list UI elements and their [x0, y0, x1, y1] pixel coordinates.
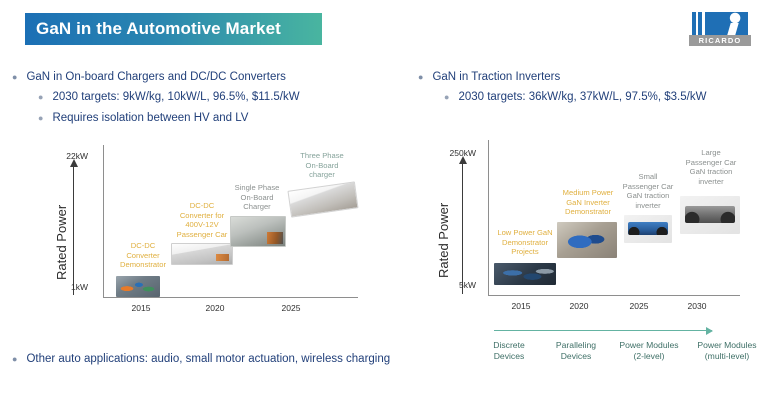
bullet-dot-icon: ● — [12, 70, 17, 85]
chart-right-point-1-label: Low Power GaN Demonstrator Projects — [490, 228, 560, 257]
chart-left-point-3-thumbnail — [230, 216, 286, 247]
logo-r-glyph — [705, 12, 748, 35]
chart-left-x-tick-2: 2020 — [192, 303, 238, 313]
chart-left-point-1-thumbnail — [116, 276, 160, 297]
bullet-dot-icon: ● — [12, 352, 17, 367]
chart-left-point-2-label: DC-DC Converter for 400V-12V Passenger C… — [170, 201, 234, 239]
logo-bar-right — [698, 12, 702, 35]
chart-right-x-tick-1: 2015 — [498, 301, 544, 311]
chart-right-x-tick-4: 2030 — [674, 301, 720, 311]
bullet-right-2-text: 2030 targets: 36kW/kg, 37kW/L, 97.5%, $3… — [458, 90, 706, 105]
chart-left-point-4-thumbnail — [287, 181, 358, 217]
chart-right-point-3-thumbnail — [624, 215, 672, 243]
slide-title-banner: GaN in the Automotive Market — [25, 13, 322, 45]
bullet-left-2-text: 2030 targets: 9kW/kg, 10kW/L, 96.5%, $11… — [52, 90, 299, 105]
chart-right-y-axis-arrow — [462, 162, 463, 294]
stage-label-2: Paralleling Devices — [541, 340, 611, 362]
chart-left-x-tick-3: 2025 — [268, 303, 314, 313]
chart-left-x-axis-line — [103, 297, 358, 298]
chart-right-point-4-label: Large Passenger Car GaN traction inverte… — [676, 148, 746, 186]
chart-right-x-axis-line — [488, 295, 740, 296]
ricardo-r-logo-icon — [689, 12, 751, 35]
chart-right-x-tick-3: 2025 — [616, 301, 662, 311]
onboard-chargers-chart: Rated Power 22kW 1kW 2015 2020 2025 DC-D… — [40, 145, 360, 325]
chart-left-y-tick-min: 1kW — [52, 282, 88, 292]
chart-left-point-1-label: DC-DC Converter Demonstrator — [112, 241, 174, 270]
chart-right-point-3-label: Small Passenger Car GaN traction inverte… — [616, 172, 680, 210]
chart-right-y-axis-line — [488, 140, 489, 295]
car-chassis-icon — [685, 206, 735, 223]
chart-left-point-4-label: Three Phase On-Board charger — [289, 151, 355, 180]
bullet-dot-icon: ● — [38, 90, 43, 105]
chart-left-y-axis-arrow — [73, 165, 74, 295]
bullet-left-1-text: GaN in On-board Chargers and DC/DC Conve… — [26, 70, 286, 85]
bullet-dot-icon: ● — [444, 90, 449, 105]
bullet-right-1-text: GaN in Traction Inverters — [432, 70, 560, 85]
chart-right-point-2-label: Medium Power GaN Inverter Demonstrator — [554, 188, 622, 217]
chart-left-y-axis-title: Rated Power — [54, 205, 69, 280]
chart-right-y-tick-max: 250kW — [428, 148, 476, 158]
chart-right-y-axis-title: Rated Power — [436, 203, 451, 278]
bullet-left-3-text: Requires isolation between HV and LV — [52, 111, 248, 126]
bullet-footer-text: Other auto applications: audio, small mo… — [26, 352, 390, 367]
technology-progression-arrow-icon — [494, 330, 712, 331]
chart-right-point-2-thumbnail — [557, 222, 617, 258]
chart-right-point-1-thumbnail — [494, 263, 556, 285]
chart-left-point-2-thumbnail — [171, 243, 233, 265]
chart-left-x-tick-1: 2015 — [118, 303, 164, 313]
bullet-dot-icon: ● — [38, 111, 43, 126]
bullet-right-2: ● 2030 targets: 36kW/kg, 37kW/L, 97.5%, … — [444, 90, 706, 105]
bullet-left-1: ● GaN in On-board Chargers and DC/DC Con… — [12, 70, 286, 85]
car-chassis-icon — [628, 222, 668, 235]
logo-wordmark: RICARDO — [689, 35, 751, 46]
chart-right-point-4-thumbnail — [680, 196, 740, 234]
chart-right-y-tick-min: 5kW — [428, 280, 476, 290]
page-title: GaN in the Automotive Market — [25, 19, 281, 39]
chart-left-y-tick-max: 22kW — [52, 151, 88, 161]
bullet-left-2: ● 2030 targets: 9kW/kg, 10kW/L, 96.5%, $… — [38, 90, 300, 105]
chart-left-point-3-label: Single Phase On-Board Charger — [226, 183, 288, 212]
stage-label-1: Discrete Devices — [478, 340, 540, 362]
traction-inverters-chart: Rated Power 250kW 5kW 2015 2020 2025 203… — [428, 140, 758, 325]
bullet-footer: ● Other auto applications: audio, small … — [12, 352, 412, 367]
bullet-left-3: ● Requires isolation between HV and LV — [38, 111, 248, 126]
bullet-right-1: ● GaN in Traction Inverters — [418, 70, 560, 85]
chart-right-x-tick-2: 2020 — [556, 301, 602, 311]
stage-label-3: Power Modules (2-level) — [608, 340, 690, 362]
bullet-dot-icon: ● — [418, 70, 423, 85]
stage-label-4: Power Modules (multi-level) — [686, 340, 768, 362]
ricardo-logo: RICARDO — [689, 12, 751, 46]
chart-left-y-axis-line — [103, 145, 104, 297]
logo-bar-left — [692, 12, 696, 35]
